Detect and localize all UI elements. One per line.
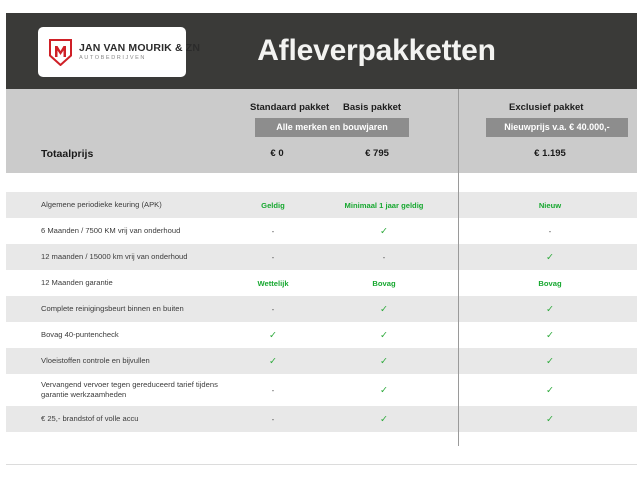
column-divider-table bbox=[458, 173, 459, 446]
row-cell-standaard: - bbox=[228, 415, 318, 424]
dash-icon: - bbox=[549, 227, 552, 236]
row-cell-exclusief: ✓ bbox=[501, 252, 599, 263]
row-label: 6 Maanden / 7500 KM vrij van onderhoud bbox=[41, 226, 180, 236]
table-bottom-border bbox=[6, 464, 637, 465]
row-cell-basis: Bovag bbox=[336, 279, 432, 288]
table-row: € 25,- brandstof of volle accu - ✓ ✓ bbox=[6, 406, 637, 432]
row-cell-exclusief: Nieuw bbox=[501, 201, 599, 210]
row-cell-basis: ✓ bbox=[336, 356, 432, 367]
dash-icon: - bbox=[272, 415, 275, 424]
total-price-standaard: € 0 bbox=[236, 148, 318, 159]
row-cell-basis: ✓ bbox=[336, 385, 432, 396]
row-cell-exclusief: ✓ bbox=[501, 385, 599, 396]
check-icon: ✓ bbox=[269, 330, 277, 341]
table-row: 12 Maanden garantie Wettelijk Bovag Bova… bbox=[6, 270, 637, 296]
dash-icon: - bbox=[383, 253, 386, 262]
dash-icon: - bbox=[272, 253, 275, 262]
row-cell-exclusief: - bbox=[501, 227, 599, 236]
total-price-basis: € 795 bbox=[336, 148, 418, 159]
table-row: Vloeistoffen controle en bijvullen ✓ ✓ ✓ bbox=[6, 348, 637, 374]
row-cell-basis: ✓ bbox=[336, 226, 432, 237]
table-row: 6 Maanden / 7500 KM vrij van onderhoud -… bbox=[6, 218, 637, 244]
row-cell-basis: ✓ bbox=[336, 414, 432, 425]
package-header: Standaard pakket Basis pakket Exclusief … bbox=[6, 89, 637, 173]
badge-nieuwprijs: Nieuwprijs v.a. € 40.000,- bbox=[486, 118, 628, 137]
check-icon: ✓ bbox=[380, 356, 388, 367]
row-label: Complete reinigingsbeurt binnen en buite… bbox=[41, 304, 184, 314]
check-icon: ✓ bbox=[546, 252, 554, 263]
table-top-spacer bbox=[6, 173, 637, 192]
row-cell-exclusief: ✓ bbox=[501, 414, 599, 425]
dash-icon: - bbox=[272, 227, 275, 236]
check-icon: ✓ bbox=[546, 330, 554, 341]
check-icon: ✓ bbox=[380, 304, 388, 315]
check-icon: ✓ bbox=[546, 356, 554, 367]
badge-alle-merken: Alle merken en bouwjaren bbox=[255, 118, 409, 137]
total-price-exclusief: € 1.195 bbox=[504, 148, 596, 159]
check-icon: ✓ bbox=[546, 385, 554, 396]
table-row: Vervangend vervoer tegen gereduceerd tar… bbox=[6, 374, 637, 406]
row-cell-standaard: Geldig bbox=[228, 201, 318, 210]
row-label: Vervangend vervoer tegen gereduceerd tar… bbox=[41, 380, 236, 401]
row-cell-standaard: Wettelijk bbox=[228, 279, 318, 288]
row-label: € 25,- brandstof of volle accu bbox=[41, 414, 139, 424]
row-cell-standaard: - bbox=[228, 227, 318, 236]
header-bar: JAN VAN MOURIK & ZN AUTOBEDRIJVEN Afleve… bbox=[6, 13, 637, 89]
dash-icon: - bbox=[272, 386, 275, 395]
page-title: Afleverpakketten bbox=[6, 34, 637, 68]
feature-table: Algemene periodieke keuring (APK) Geldig… bbox=[6, 173, 637, 465]
check-icon: ✓ bbox=[380, 414, 388, 425]
table-bottom-spacer bbox=[6, 432, 637, 452]
check-icon: ✓ bbox=[269, 356, 277, 367]
row-cell-standaard: ✓ bbox=[228, 356, 318, 367]
row-cell-exclusief: Bovag bbox=[501, 279, 599, 288]
row-cell-standaard: - bbox=[228, 386, 318, 395]
row-cell-standaard: ✓ bbox=[228, 330, 318, 341]
check-icon: ✓ bbox=[546, 414, 554, 425]
row-cell-basis: - bbox=[336, 253, 432, 262]
column-header-standaard: Standaard pakket bbox=[250, 102, 329, 113]
page-root: JAN VAN MOURIK & ZN AUTOBEDRIJVEN Afleve… bbox=[0, 0, 640, 480]
check-icon: ✓ bbox=[546, 304, 554, 315]
row-label: Vloeistoffen controle en bijvullen bbox=[41, 356, 150, 366]
row-cell-exclusief: ✓ bbox=[501, 330, 599, 341]
check-icon: ✓ bbox=[380, 226, 388, 237]
row-cell-basis: Minimaal 1 jaar geldig bbox=[336, 201, 432, 210]
row-label: Bovag 40-puntencheck bbox=[41, 330, 119, 340]
row-label: 12 maanden / 15000 km vrij van onderhoud bbox=[41, 252, 188, 262]
check-icon: ✓ bbox=[380, 330, 388, 341]
check-icon: ✓ bbox=[380, 385, 388, 396]
column-header-exclusief: Exclusief pakket bbox=[509, 102, 583, 113]
row-cell-basis: ✓ bbox=[336, 330, 432, 341]
row-label: 12 Maanden garantie bbox=[41, 278, 113, 288]
total-price-row: Totaalprijs € 0 € 795 € 1.195 bbox=[6, 142, 637, 170]
afleverpakketten-card: JAN VAN MOURIK & ZN AUTOBEDRIJVEN Afleve… bbox=[6, 13, 637, 465]
row-cell-standaard: - bbox=[228, 305, 318, 314]
table-row: Algemene periodieke keuring (APK) Geldig… bbox=[6, 192, 637, 218]
row-cell-standaard: - bbox=[228, 253, 318, 262]
dash-icon: - bbox=[272, 305, 275, 314]
row-cell-exclusief: ✓ bbox=[501, 304, 599, 315]
column-header-basis: Basis pakket bbox=[343, 102, 401, 113]
row-label: Algemene periodieke keuring (APK) bbox=[41, 200, 162, 210]
table-row: Bovag 40-puntencheck ✓ ✓ ✓ bbox=[6, 322, 637, 348]
table-row: 12 maanden / 15000 km vrij van onderhoud… bbox=[6, 244, 637, 270]
row-cell-exclusief: ✓ bbox=[501, 356, 599, 367]
table-row: Complete reinigingsbeurt binnen en buite… bbox=[6, 296, 637, 322]
total-price-label: Totaalprijs bbox=[41, 148, 93, 160]
row-cell-basis: ✓ bbox=[336, 304, 432, 315]
